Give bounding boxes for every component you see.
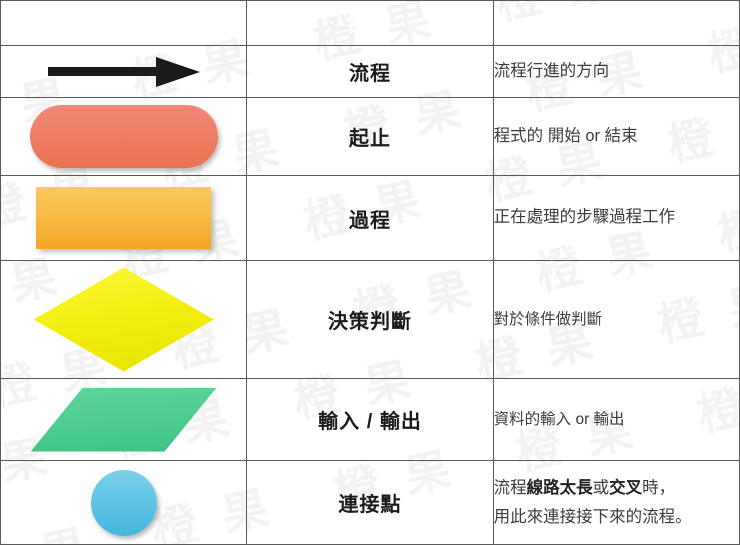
desc-text: 時， [642,479,675,497]
table-row: 流程 流程行進的方向 [1,46,740,98]
desc-cell-connector: 流程線路太長或交叉時， 用此來連接接下來的流程。 [493,461,739,545]
name-cell-terminator: 起止 [247,98,493,176]
table-header-row: 形狀 名稱 用途說明 [1,1,740,46]
desc-emphasis: 交叉 [609,479,642,497]
shape-cell-decision [1,261,247,379]
diamond-shape-icon [34,268,214,372]
flowchart-symbol-table-sheet: 橙果 橙果 橙果 橙果 橙果 橙果 橙果 橙果 橙果 橙果 橙果 橙果 橙果 橙… [0,0,740,544]
desc-cell-process: 正在處理的步驟過程工作 [493,176,739,261]
parallelogram-shape-icon [31,388,217,452]
desc-text: 或 [593,479,610,497]
name-cell-io: 輸入 / 輸出 [247,379,493,461]
table-row: 過程 正在處理的步驟過程工作 [1,176,740,261]
shape-cell-terminator [1,98,247,176]
name-cell-decision: 決策判斷 [247,261,493,379]
desc-line-2: 用此來連接接下來的流程。 [494,503,739,532]
shape-cell-connector [1,461,247,545]
table-row: 輸入 / 輸出 資料的輸入 or 輸出 [1,379,740,461]
circle-shape-icon [91,470,157,536]
desc-cell-flow: 流程行進的方向 [493,46,739,98]
column-header-name: 名稱 [247,1,493,46]
diamond-shape-wrapper [34,268,214,372]
table-body: 流程 流程行進的方向 起止 程式的 開始 or 結束 過程 正在處理的步驟過程工… [1,46,740,545]
table-header: 形狀 名稱 用途說明 [1,1,740,46]
shape-cell-flow [1,46,247,98]
shape-cell-process [1,176,247,261]
name-cell-process: 過程 [247,176,493,261]
desc-cell-io: 資料的輸入 or 輸出 [493,379,739,461]
name-cell-connector: 連接點 [247,461,493,545]
desc-line-1: 流程線路太長或交叉時， [494,474,739,503]
table-row: 連接點 流程線路太長或交叉時， 用此來連接接下來的流程。 [1,461,740,545]
desc-cell-terminator: 程式的 開始 or 結束 [493,98,739,176]
shape-cell-io [1,379,247,461]
rectangle-shape-icon [36,187,211,249]
table-row: 決策判斷 對於條件做判斷 [1,261,740,379]
desc-text: 流程 [494,479,527,497]
desc-emphasis: 線路太長 [527,479,593,497]
table-row: 起止 程式的 開始 or 結束 [1,98,740,176]
column-header-usage: 用途說明 [493,1,739,46]
name-cell-flow: 流程 [247,46,493,98]
arrow-right-icon [48,55,200,89]
parallelogram-shape-wrapper [31,388,217,452]
flowchart-symbol-table: 形狀 名稱 用途說明 流程 流程行進的方向 [0,0,740,545]
column-header-shape: 形狀 [1,1,247,46]
stadium-shape-icon [30,105,218,168]
desc-cell-decision: 對於條件做判斷 [493,261,739,379]
